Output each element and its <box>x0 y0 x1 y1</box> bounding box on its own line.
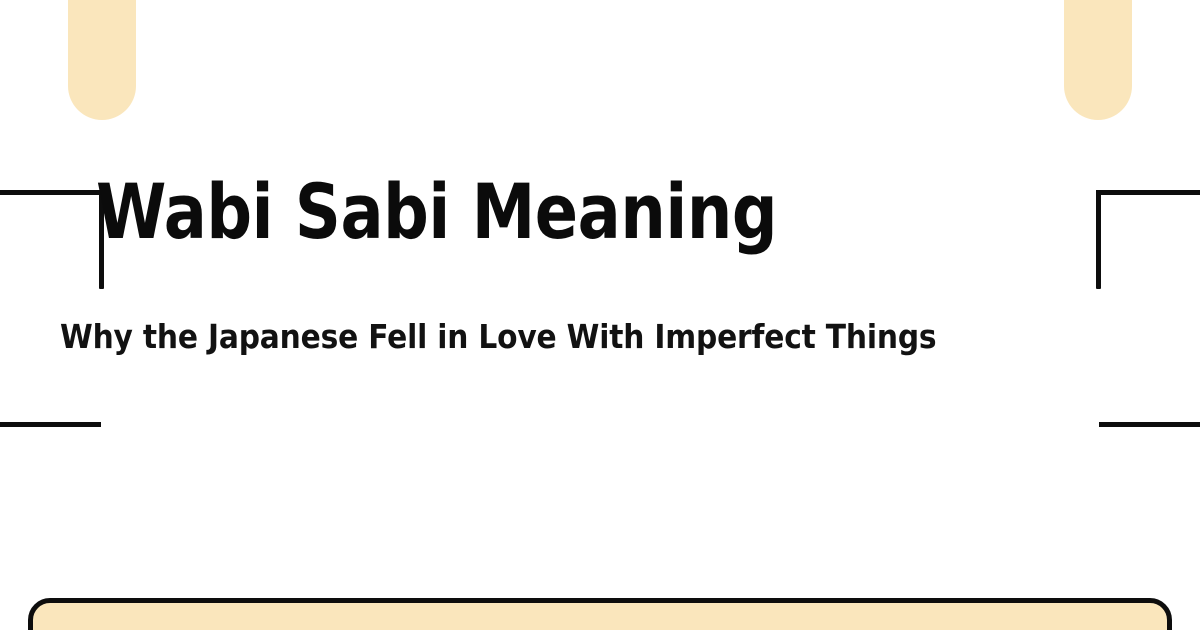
cream-bar-right-decoration <box>1064 0 1132 120</box>
social-share-card: Wabi Sabi Meaning Why the Japanese Fell … <box>0 0 1200 630</box>
cream-bar-left-decoration <box>68 0 136 120</box>
bottom-cream-panel <box>28 598 1172 630</box>
page-title: Wabi Sabi Meaning <box>96 166 1104 258</box>
page-subtitle: Why the Japanese Fell in Love With Imper… <box>60 315 1140 359</box>
corner-bracket-top-left-horizontal <box>0 190 104 195</box>
corner-bracket-top-right-horizontal <box>1096 190 1200 195</box>
rule-bottom-left <box>0 422 101 427</box>
rule-bottom-right <box>1099 422 1200 427</box>
